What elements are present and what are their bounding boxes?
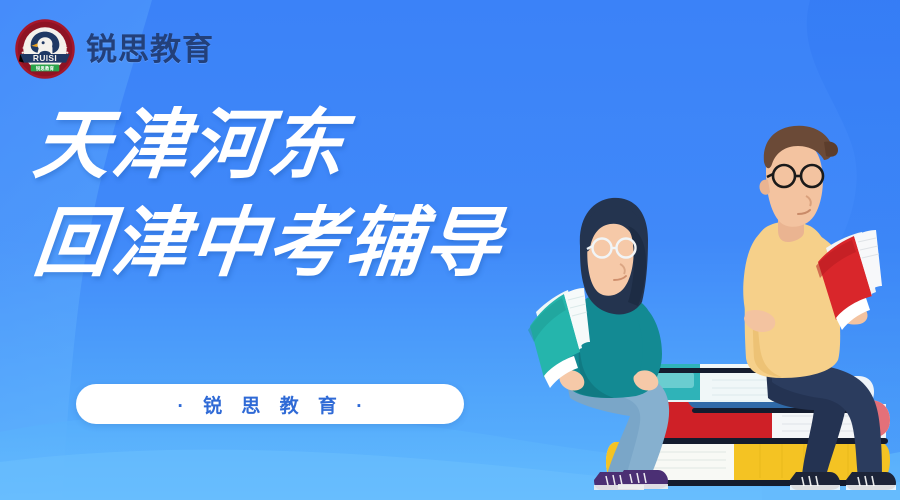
brand-header: RUISI EDUCATION RUISI 锐思教育 锐思教育 <box>14 18 214 80</box>
headline-block: 天津河东 回津中考辅导 <box>34 108 502 282</box>
logo-green-box-text: 锐思教育 <box>36 65 55 72</box>
brand-pill-label: · 锐 思 教 育 · <box>170 391 369 418</box>
female-student-figure <box>528 198 669 490</box>
headline-line-2: 回津中考辅导 <box>30 206 506 282</box>
female-shoes <box>594 470 668 490</box>
brand-name: 锐思教育 <box>86 34 214 65</box>
logo-banner-text: RUISI <box>33 53 57 63</box>
brand-pill-button[interactable]: · 锐 思 教 育 · <box>76 384 464 424</box>
ruisi-eagle-badge-icon: RUISI EDUCATION RUISI 锐思教育 <box>14 18 76 80</box>
headline-line-1: 天津河东 <box>30 108 506 184</box>
two-students-reading-illustration <box>520 80 900 500</box>
promo-banner: RUISI EDUCATION RUISI 锐思教育 锐思教育 天津河 <box>0 0 900 500</box>
